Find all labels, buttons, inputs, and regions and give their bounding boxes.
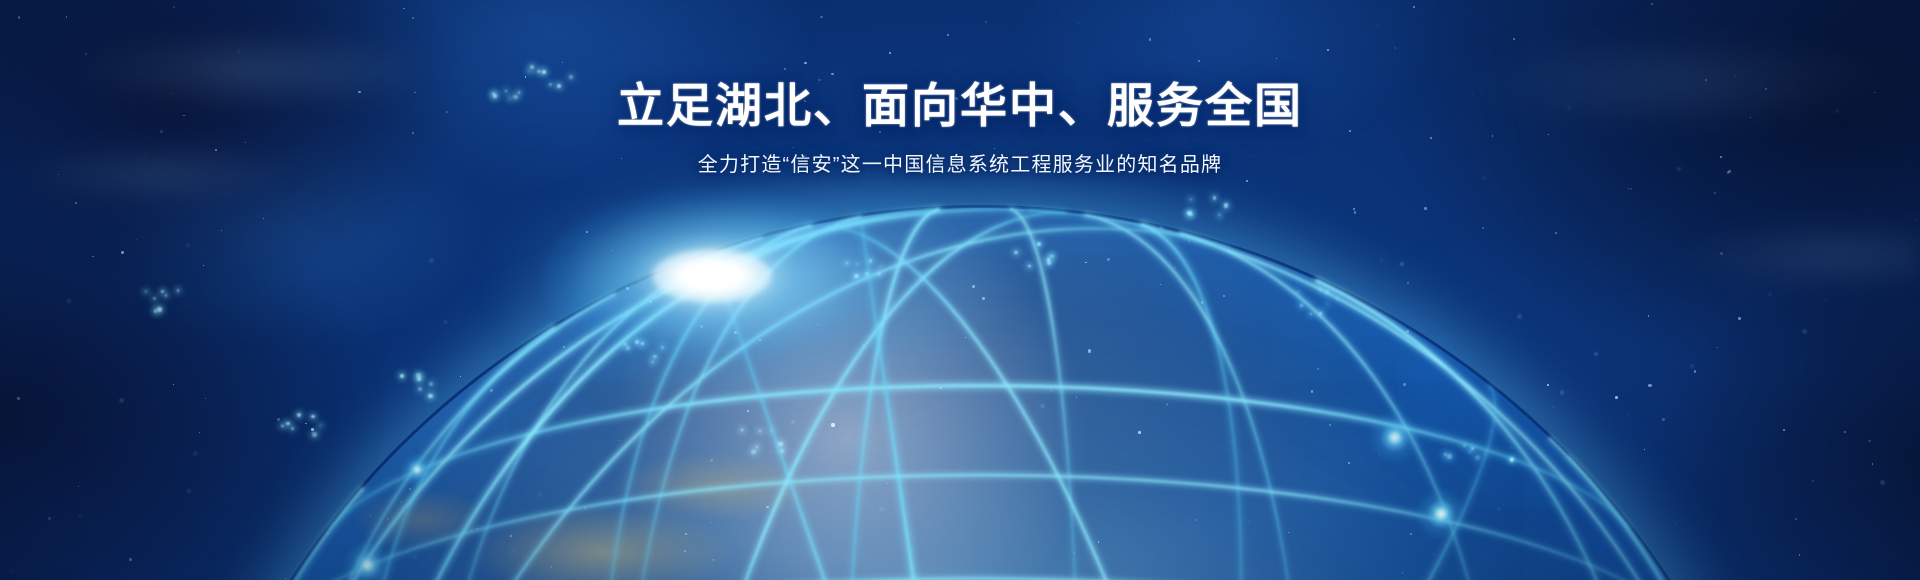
banner-copy: 立足湖北、面向华中、服务全国 全力打造“信安”这一中国信息系统工程服务业的知名品… (0, 78, 1920, 179)
light-burst-icon (712, 276, 714, 278)
banner-subline: 全力打造“信安”这一中国信息系统工程服务业的知名品牌 (0, 151, 1920, 179)
banner-headline: 立足湖北、面向华中、服务全国 (0, 78, 1920, 133)
hero-banner: 立足湖北、面向华中、服务全国 全力打造“信安”这一中国信息系统工程服务业的知名品… (0, 0, 1920, 580)
